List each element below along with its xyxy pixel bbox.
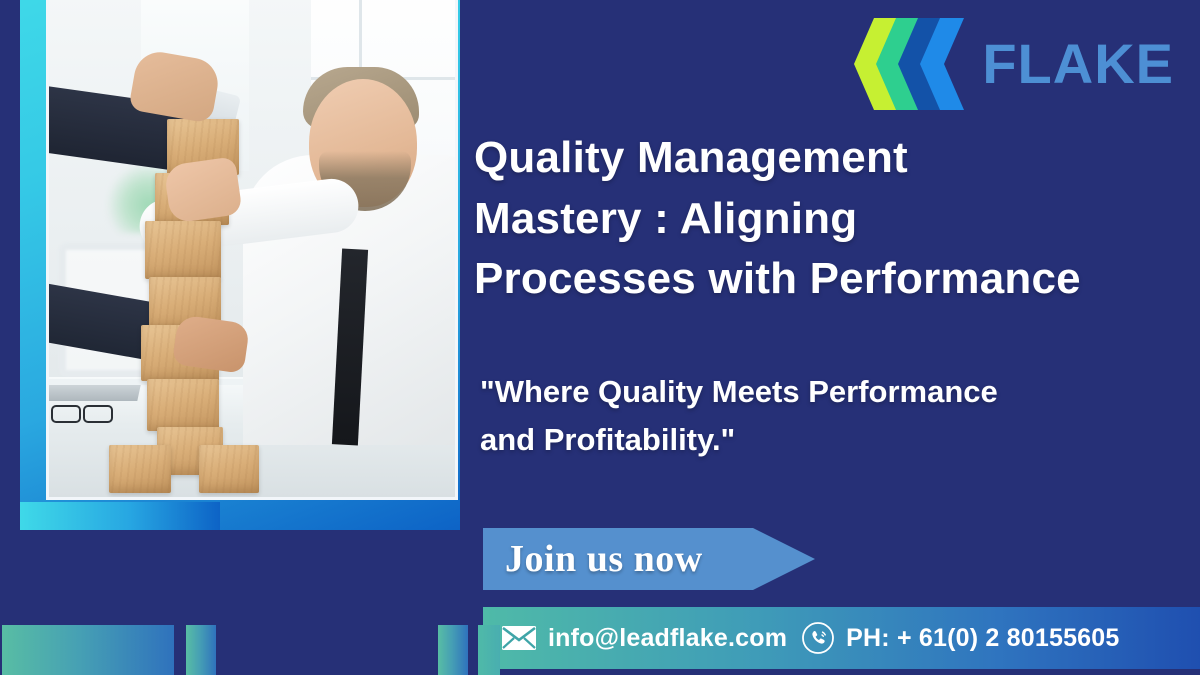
hero-photo-scene: [49, 0, 455, 497]
decor-block-2: [186, 625, 216, 675]
headline-line-2: Mastery : Aligning: [474, 189, 1188, 250]
wooden-block: [109, 445, 171, 493]
chevron-stack-icon: [854, 18, 970, 110]
tagline-line-1: "Where Quality Meets Performance: [480, 368, 1180, 416]
page-title: Quality Management Mastery : Aligning Pr…: [474, 128, 1188, 310]
chevron-icon-blue: [920, 18, 966, 110]
tagline-line-2: and Profitability.": [480, 416, 1180, 464]
eyeglasses: [51, 405, 121, 419]
laptop: [49, 385, 141, 401]
phone-text: PH: + 61(0) 2 80155605: [846, 624, 1119, 653]
hero-photo: [46, 0, 458, 500]
phone-circle-icon: [801, 621, 835, 655]
join-us-now-button[interactable]: Join us now: [483, 528, 815, 590]
phone-contact[interactable]: PH: + 61(0) 2 80155605: [801, 621, 1119, 655]
decor-block-4: [478, 625, 500, 675]
email-contact[interactable]: info@leadflake.com: [501, 624, 787, 653]
cta-label: Join us now: [505, 528, 703, 590]
contact-bar: info@leadflake.com PH: + 61(0) 2 8015560…: [483, 607, 1200, 669]
photo-underbar-accent: [20, 502, 220, 530]
brand-logo[interactable]: FLAKE: [854, 18, 1174, 110]
decor-block-1: [2, 625, 174, 675]
headline-line-1: Quality Management: [474, 128, 1188, 189]
headline-line-3: Processes with Performance: [474, 249, 1188, 310]
wooden-block: [199, 445, 259, 493]
tagline: "Where Quality Meets Performance and Pro…: [480, 368, 1180, 464]
brand-name: FLAKE: [982, 36, 1174, 92]
colleague-hand-lower: [172, 314, 250, 374]
businessman-hand: [163, 156, 242, 223]
email-text: info@leadflake.com: [548, 624, 787, 653]
envelope-icon: [501, 625, 537, 651]
decor-block-3: [438, 625, 468, 675]
promotional-banner: FLAKE Quality Management Mastery : Align…: [0, 0, 1200, 675]
wooden-block: [147, 379, 219, 431]
cta-arrow-icon: [753, 528, 815, 590]
wooden-block: [145, 221, 221, 279]
